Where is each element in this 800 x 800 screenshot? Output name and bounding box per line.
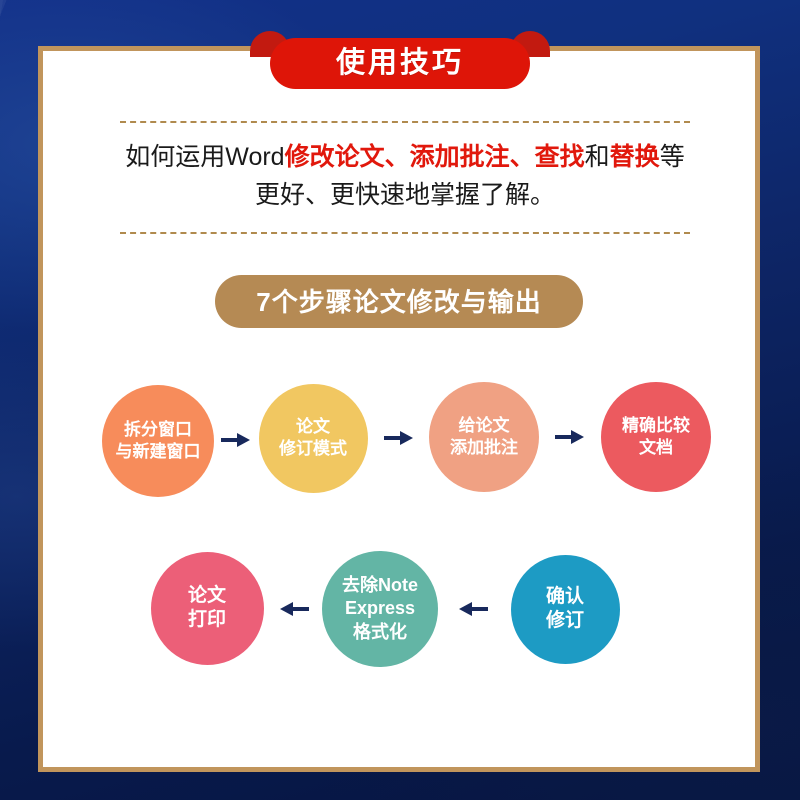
flow-node-7-line-2: 打印 — [188, 608, 226, 632]
poster-canvas: 如何运用Word修改论文、添加批注、查找和替换等 更好、更快速地掌握了解。 7个… — [0, 0, 800, 800]
intro-highlight-2: 添加批注 — [410, 143, 510, 171]
intro-highlight-4: 替换 — [610, 143, 660, 171]
flow-node-4-line-1: 精确比较 — [622, 415, 690, 437]
ribbon-banner: 使用技巧 — [250, 31, 550, 89]
arrow-head — [237, 433, 250, 447]
intro-line-1: 如何运用Word修改论文、添加批注、查找和替换等 — [120, 139, 690, 175]
flow-node-7[interactable]: 论文打印 — [151, 552, 264, 665]
intro-sep-2: 、 — [510, 143, 535, 171]
flow-node-6-line-3: 格式化 — [353, 621, 407, 644]
arrow-shaft — [470, 607, 488, 611]
flow-node-1-line-2: 与新建窗口 — [116, 441, 201, 463]
flow-node-3[interactable]: 给论文添加批注 — [429, 382, 539, 492]
intro-highlight-1: 修改论文 — [285, 143, 385, 171]
intro-sep-1: 、 — [385, 143, 410, 171]
flow-arrow-6-to-7 — [279, 601, 309, 617]
section-heading-pill: 7个步骤论文修改与输出 — [215, 275, 583, 328]
intro-highlight-3: 查找 — [535, 143, 585, 171]
flow-node-6-line-1: 去除Note — [342, 574, 418, 597]
ribbon-banner-label: 使用技巧 — [336, 49, 464, 78]
flow-node-3-line-2: 添加批注 — [450, 437, 518, 459]
flow-node-5-line-1: 确认 — [546, 585, 584, 609]
flow-node-6[interactable]: 去除NoteExpress格式化 — [322, 551, 438, 667]
flow-node-2-line-2: 修订模式 — [279, 438, 347, 460]
flow-node-1-line-1: 拆分窗口 — [124, 419, 192, 441]
intro-mid: 和 — [585, 143, 610, 171]
intro-block: 如何运用Word修改论文、添加批注、查找和替换等 更好、更快速地掌握了解。 — [120, 121, 690, 234]
arrow-head — [571, 430, 584, 444]
intro-prefix: 如何运用Word — [125, 143, 284, 171]
flow-arrow-3-to-4 — [555, 429, 585, 445]
flow-node-7-line-1: 论文 — [188, 584, 226, 608]
intro-text: 如何运用Word修改论文、添加批注、查找和替换等 更好、更快速地掌握了解。 — [120, 123, 690, 224]
flow-arrow-2-to-3 — [384, 430, 414, 446]
arrow-head — [400, 431, 413, 445]
flow-node-1[interactable]: 拆分窗口与新建窗口 — [102, 385, 214, 497]
gold-frame-card: 如何运用Word修改论文、添加批注、查找和替换等 更好、更快速地掌握了解。 7个… — [38, 46, 760, 772]
flow-node-4[interactable]: 精确比较文档 — [601, 382, 711, 492]
flow-node-5-line-2: 修订 — [546, 609, 584, 633]
intro-suffix: 等 — [660, 143, 685, 171]
flow-node-2[interactable]: 论文修订模式 — [259, 384, 368, 493]
flow-arrow-1-to-2 — [221, 432, 251, 448]
flow-node-5[interactable]: 确认修订 — [511, 555, 620, 664]
section-heading-label: 7个步骤论文修改与输出 — [256, 289, 541, 315]
arrow-shaft — [291, 607, 309, 611]
ribbon-pill: 使用技巧 — [270, 38, 530, 89]
divider-bottom — [120, 232, 690, 234]
flow-node-3-line-1: 给论文 — [459, 415, 510, 437]
arrow-head — [280, 602, 293, 616]
flow-node-4-line-2: 文档 — [639, 437, 673, 459]
flow-node-2-line-1: 论文 — [296, 416, 330, 438]
flow-arrow-5-to-6 — [458, 601, 488, 617]
arrow-head — [459, 602, 472, 616]
intro-line-2: 更好、更快速地掌握了解。 — [120, 175, 690, 213]
flow-node-6-line-2: Express — [345, 597, 415, 620]
